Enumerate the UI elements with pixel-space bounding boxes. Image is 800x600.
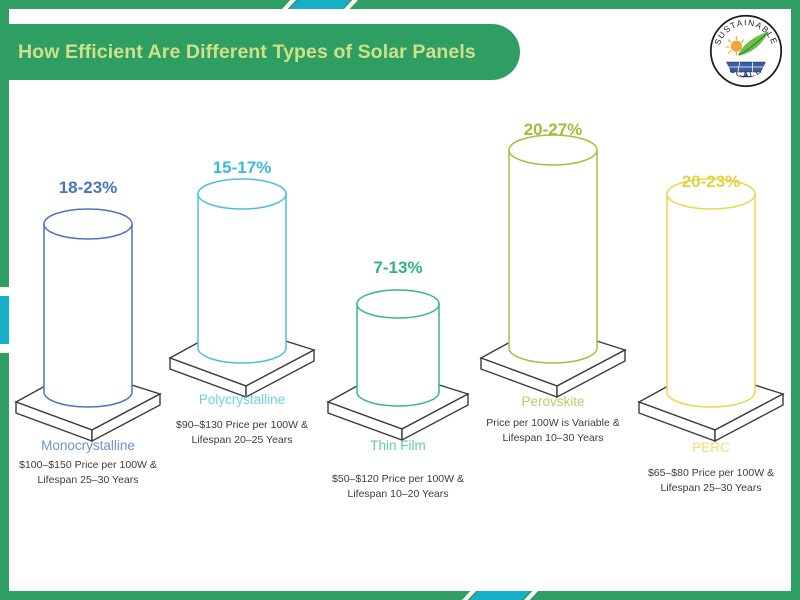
category-name-thin-film: Thin Film: [370, 438, 426, 453]
value-label-thin-film: 7-13%: [373, 258, 422, 278]
frame-notch-left-top: [0, 287, 9, 296]
cylinder-polycrystalline: [198, 179, 286, 363]
frame-border-right: [791, 0, 800, 600]
cylinder-monocrystalline: [44, 209, 132, 407]
bar-group-monocrystalline: [16, 209, 160, 441]
category-name-polycrystalline: Polycrystalline: [199, 392, 285, 407]
category-name-monocrystalline: Monocrystalline: [41, 438, 135, 453]
category-description-perc: $65–$80 Price per 100W & Lifespan 25–30 …: [635, 466, 787, 496]
frame-accent-left: [0, 293, 9, 347]
cylinder-perc: [667, 179, 755, 407]
category-name-perovskite: Perovskite: [521, 394, 584, 409]
infographic-canvas: How Efficient Are Different Types of Sol…: [0, 0, 800, 600]
category-name-perc: PERC: [692, 440, 730, 455]
value-label-perc: 20-23%: [682, 172, 741, 192]
title-banner: How Efficient Are Different Types of Sol…: [0, 24, 520, 80]
category-description-polycrystalline: $90–$130 Price per 100W & Lifespan 20–25…: [166, 418, 318, 448]
bar-group-polycrystalline: [170, 179, 314, 397]
cylinder-chart: [0, 0, 800, 600]
page-title: How Efficient Are Different Types of Sol…: [0, 41, 476, 64]
category-description-perovskite: Price per 100W is Variable & Lifespan 10…: [477, 416, 629, 446]
frame-accent-bottom: [470, 591, 530, 600]
bar-group-perc: [639, 179, 783, 441]
value-label-monocrystalline: 18-23%: [59, 178, 118, 198]
frame-accent-top: [290, 0, 350, 9]
value-label-perovskite: 20-27%: [524, 120, 583, 140]
frame-border-bottom: [0, 591, 800, 600]
frame-notch-left-bottom: [0, 344, 9, 353]
frame-border-top: [0, 0, 800, 9]
cylinder-perovskite: [509, 135, 597, 363]
category-description-thin-film: $50–$120 Price per 100W & Lifespan 10–20…: [322, 472, 474, 502]
bar-group-thin-film: [328, 290, 468, 440]
cylinder-thin-film: [357, 290, 439, 406]
value-label-polycrystalline: 15-17%: [213, 158, 272, 178]
bar-group-perovskite: [481, 135, 625, 397]
sustainable-scale-logo: SUSTAINABLE SCALE: [706, 11, 786, 91]
category-description-monocrystalline: $100–$150 Price per 100W & Lifespan 25–3…: [12, 458, 164, 488]
